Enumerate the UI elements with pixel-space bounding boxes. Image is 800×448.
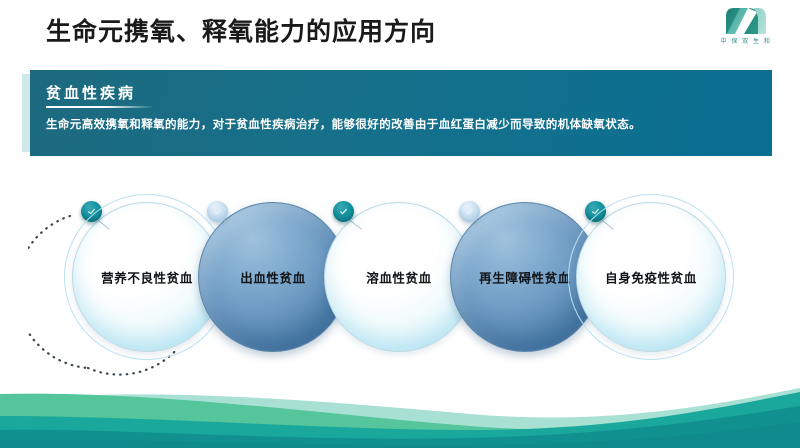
- bubble-label: 自身免疫性贫血: [577, 268, 725, 287]
- company-logo: 中 保 双 生 和: [714, 6, 778, 52]
- banner-heading: 贫血性疾病: [46, 82, 136, 108]
- slide: 生命元携氧、释氧能力的应用方向 中: [0, 0, 800, 448]
- check-badge-icon: [585, 201, 606, 222]
- check-badge-icon: [459, 201, 480, 222]
- bubble-row: 营养不良性贫血 出血性贫血 溶血性贫血 再生障碍性贫血: [0, 196, 800, 366]
- badge-connector-3: [349, 219, 362, 230]
- banner-heading-underline: [46, 106, 154, 108]
- badge-connector-1: [97, 219, 110, 230]
- check-badge-icon: [207, 201, 228, 222]
- logo-chinese-name: 中 保 双 生 和: [714, 36, 778, 45]
- check-badge-icon: [333, 201, 354, 222]
- logo-mark-icon: [714, 6, 778, 38]
- badge-connector-4: [475, 219, 488, 230]
- banner-body-text: 生命元高效携氧和释氧的能力，对于贫血性疾病治疗，能够很好的改善由于血红蛋白减少而…: [46, 116, 758, 134]
- bubble-item-5[interactable]: 自身免疫性贫血: [576, 202, 726, 352]
- badge-connector-5: [601, 219, 614, 230]
- bottom-wave-decoration: [0, 368, 800, 448]
- banner: 贫血性疾病 生命元高效携氧和释氧的能力，对于贫血性疾病治疗，能够很好的改善由于血…: [30, 70, 772, 156]
- page-title: 生命元携氧、释氧能力的应用方向: [46, 12, 436, 48]
- check-badge-icon: [81, 201, 102, 222]
- badge-connector-2: [223, 219, 236, 230]
